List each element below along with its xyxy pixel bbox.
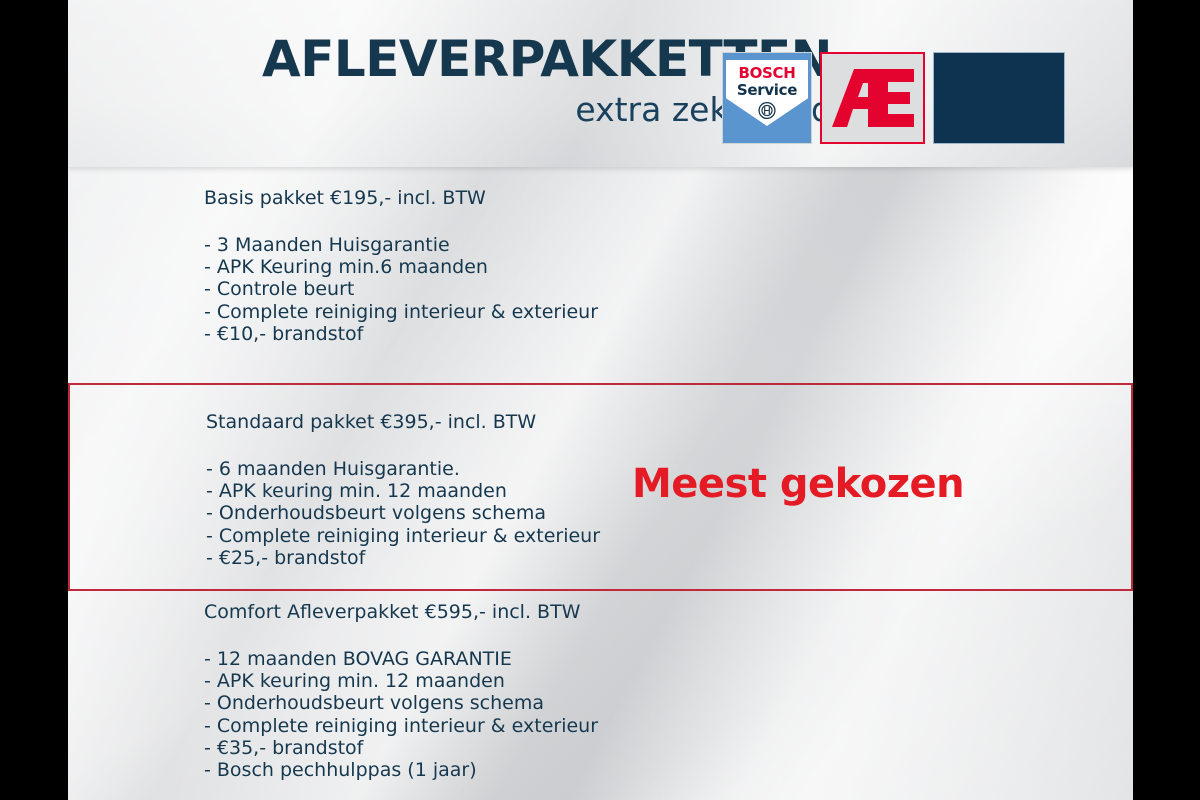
bosch-service-wordmark: Service	[723, 81, 811, 99]
package-section-basis: Basis pakket €195,- incl. BTW - 3 Maande…	[68, 167, 1133, 381]
package-title-comfort: Comfort Afleverpakket €595,- incl. BTW	[204, 601, 764, 624]
list-item: - Onderhoudsbeurt volgens schema	[204, 692, 764, 714]
package-body: Comfort Afleverpakket €595,- incl. BTW -…	[204, 601, 764, 782]
letterbox-bar-right	[1133, 0, 1200, 800]
list-item: - 12 maanden BOVAG GARANTIE	[204, 648, 764, 670]
bosch-armature-icon	[758, 101, 777, 120]
logo-group: BOSCH Service	[722, 52, 1065, 144]
list-item: - Complete reiniging interieur & exterie…	[204, 715, 764, 737]
list-item: - 3 Maanden Huisgarantie	[204, 234, 764, 256]
list-item: - Complete reiniging interieur & exterie…	[206, 525, 766, 547]
package-section-standaard: Standaard pakket €395,- incl. BTW - 6 ma…	[68, 383, 1133, 591]
ae-logo	[820, 52, 925, 144]
package-title-standaard: Standaard pakket €395,- incl. BTW	[206, 411, 766, 434]
list-item: - Complete reiniging interieur & exterie…	[204, 301, 764, 323]
package-body: Basis pakket €195,- incl. BTW - 3 Maande…	[204, 187, 764, 345]
ae-monogram-icon	[830, 69, 916, 127]
header-banner: AFLEVERPAKKETTEN extra zekerheid BOSCH S…	[68, 0, 1133, 167]
navy-block	[933, 52, 1065, 144]
letterbox-bar-left	[0, 0, 68, 800]
list-item: - Bosch pechhulppas (1 jaar)	[204, 759, 764, 781]
package-title-basis: Basis pakket €195,- incl. BTW	[204, 187, 764, 210]
bosch-service-logo: BOSCH Service	[722, 52, 812, 144]
slide-root: AFLEVERPAKKETTEN extra zekerheid BOSCH S…	[0, 0, 1200, 800]
package-section-comfort: Comfort Afleverpakket €595,- incl. BTW -…	[68, 593, 1133, 800]
package-feature-list-basis: - 3 Maanden Huisgarantie - APK Keuring m…	[204, 234, 764, 345]
slide-canvas: AFLEVERPAKKETTEN extra zekerheid BOSCH S…	[68, 0, 1133, 800]
list-item: - APK Keuring min.6 maanden	[204, 256, 764, 278]
most-chosen-badge: Meest gekozen	[632, 461, 964, 507]
list-item: - €35,- brandstof	[204, 737, 764, 759]
package-feature-list-comfort: - 12 maanden BOVAG GARANTIE - APK keurin…	[204, 648, 764, 782]
list-item: - €10,- brandstof	[204, 323, 764, 345]
list-item: - €25,- brandstof	[206, 547, 766, 569]
list-item: - APK keuring min. 12 maanden	[204, 670, 764, 692]
bosch-wordmark: BOSCH	[723, 64, 811, 82]
list-item: - Controle beurt	[204, 278, 764, 300]
